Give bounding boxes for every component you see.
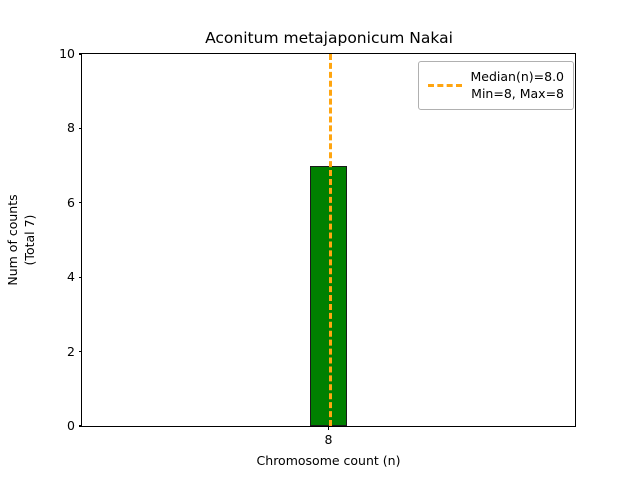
legend: Median(n)=8.0 Min=8, Max=8 [418,61,575,110]
y-tick-label: 4 [67,269,75,285]
y-tick-label: 8 [67,120,75,136]
legend-label-minmax: Min=8, Max=8 [471,86,564,101]
y-tick-label: 10 [59,46,75,62]
y-tick-label: 0 [67,418,75,434]
y-tick-mark [79,202,83,203]
y-tick-label: 2 [67,344,75,360]
y-axis-label-text: Num of counts (Total 7) [4,194,38,285]
legend-label-median: Median(n)=8.0 [471,69,565,84]
x-tick-label: 8 [289,432,369,448]
plot-area: 0 2 4 6 8 10 8 [81,53,576,427]
y-tick-mark [79,128,83,129]
y-axis-label: Num of counts (Total 7) [0,53,42,427]
y-axis-label-line2: (Total 7) [22,215,37,266]
chart-figure: Aconitum metajaponicum Nakai 0 2 4 6 8 1… [0,0,640,480]
median-vline [329,54,332,426]
y-tick-mark [79,53,83,54]
y-axis-label-line1: Num of counts [5,194,20,285]
legend-label-group: Median(n)=8.0 Min=8, Max=8 [471,68,565,102]
legend-dashed-line-icon [428,84,462,87]
y-tick-mark [79,425,83,426]
x-tick-mark [328,426,329,430]
page-title: Aconitum metajaponicum Nakai [0,29,640,47]
x-axis-label: Chromosome count (n) [81,453,576,468]
y-tick-label: 6 [67,195,75,211]
y-tick-mark [79,277,83,278]
y-tick-mark [79,351,83,352]
